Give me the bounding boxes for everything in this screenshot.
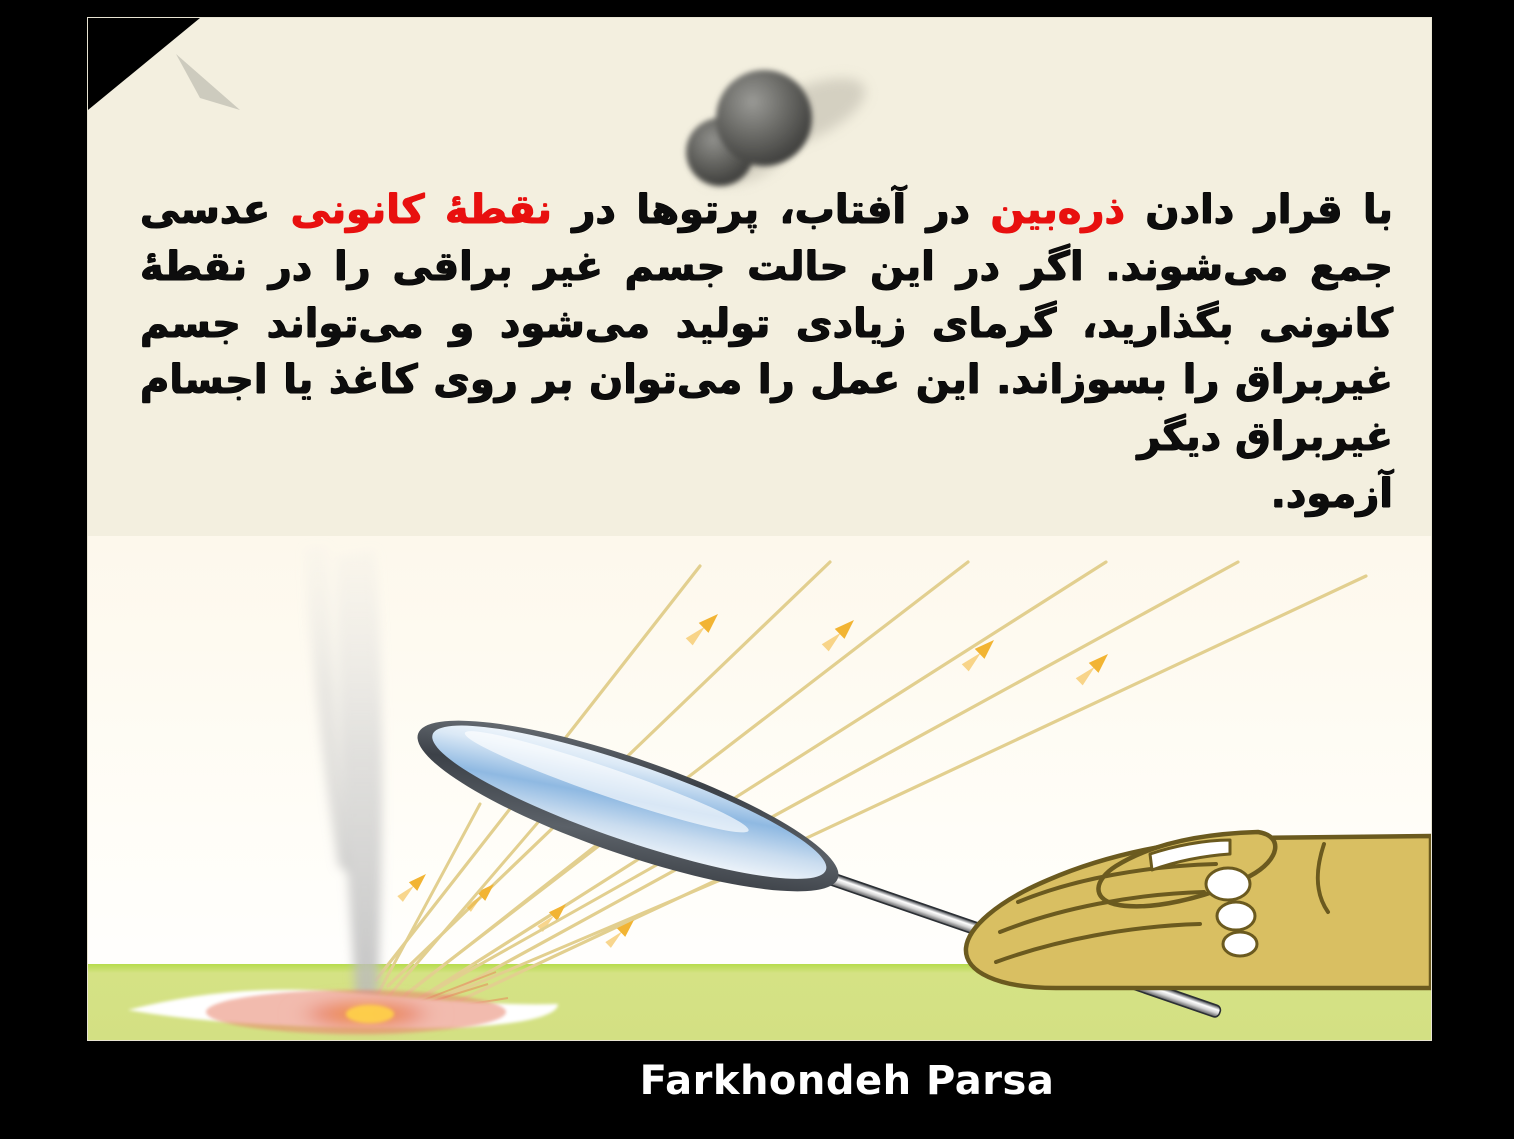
gray-spheres-decoration bbox=[658, 56, 888, 196]
small-sphere bbox=[686, 118, 754, 186]
text-panel: با قرار دادن ذره‌بین در آفتاب، پرتوها در… bbox=[88, 18, 1431, 536]
fingernail bbox=[1223, 932, 1257, 956]
highlight-focal-point: نقطهٔ کانونی bbox=[291, 187, 552, 233]
text-segment-1: با قرار دادن bbox=[1125, 187, 1393, 233]
fingernail bbox=[1206, 868, 1250, 900]
focal-hot-spot bbox=[346, 1005, 394, 1023]
highlight-magnifier: ذره‌بین bbox=[990, 187, 1125, 233]
illustration-panel bbox=[88, 536, 1431, 1040]
magnifier-sunlight-illustration bbox=[88, 536, 1431, 1040]
presentation-slide: با قرار دادن ذره‌بین در آفتاب، پرتوها در… bbox=[0, 0, 1514, 1139]
author-credit: Farkhondeh Parsa bbox=[0, 1046, 1514, 1116]
text-segment-2: در آفتاب، پرتوها در bbox=[552, 187, 991, 233]
text-segment-last: آزمود. bbox=[140, 466, 1393, 523]
fingernail bbox=[1217, 902, 1255, 930]
slide-content-card: با قرار دادن ذره‌بین در آفتاب، پرتوها در… bbox=[88, 18, 1431, 1040]
body-paragraph: با قرار دادن ذره‌بین در آفتاب، پرتوها در… bbox=[140, 182, 1393, 523]
large-sphere bbox=[716, 70, 812, 166]
sphere-shadow bbox=[733, 63, 875, 164]
